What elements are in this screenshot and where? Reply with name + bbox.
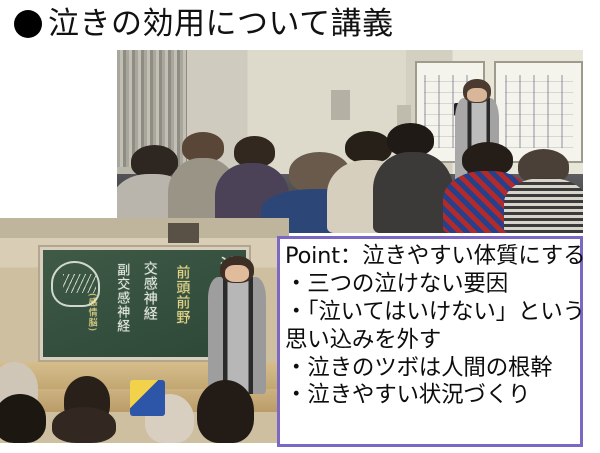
chalk-text-fuku-kokan-shinkei: 副交感神経 [115, 263, 128, 333]
classroom-ceiling [0, 218, 289, 238]
chalk-text-kanjonou: (感情脳) [87, 293, 96, 332]
lecture-hall-photo [117, 50, 583, 233]
audience-head [387, 123, 434, 156]
point-text-lines: Point：泣きやすい体質にする ・三つの泣けない要因 ・「泣いてはいけない」と… [285, 243, 578, 410]
audience-shoulder [373, 152, 452, 233]
point-line-0: Point：泣きやすい体質にする [285, 243, 578, 271]
chalk-text-kokan-shinkei: 交感神経 [143, 261, 157, 321]
brain-hatching [63, 274, 96, 293]
chalk-text-zento-zenya: 前頭前野 [175, 265, 189, 325]
student-bag [130, 380, 165, 416]
point-line-4: ・泣きのツボは人間の根幹 [285, 355, 578, 383]
point-line-3: 思い込みを外す [285, 327, 578, 355]
page-title-text: 泣きの効用について講義 [48, 9, 394, 40]
filled-circle-bullet-icon [14, 10, 42, 38]
point-text-box: Point：泣きやすい体質にする ・三つの泣けない要因 ・「泣いてはいけない」と… [277, 236, 583, 447]
classroom-chalkboard-photo: 涙 交感神経 副交感神経 前頭前野 (感情脳) [0, 218, 289, 443]
teacher-face [225, 265, 248, 282]
audience-shoulder [504, 178, 583, 233]
lecturer-face [467, 88, 488, 103]
wall-door [331, 90, 350, 119]
audience-head [345, 131, 392, 164]
ceiling-speaker [168, 223, 200, 243]
teacher-body [208, 277, 266, 394]
slide-canvas: 泣きの効用について講義 [0, 0, 600, 453]
audience-head [131, 145, 178, 178]
page-title: 泣きの効用について講義 [14, 2, 574, 46]
point-line-5: ・泣きやすい状況づくり [285, 382, 578, 410]
student-head [197, 380, 255, 443]
point-line-2: ・「泣いてはいけない」という [285, 299, 578, 327]
point-line-1: ・三つの泣けない要因 [285, 271, 578, 299]
audience-head [234, 136, 276, 167]
student-head [52, 407, 116, 443]
